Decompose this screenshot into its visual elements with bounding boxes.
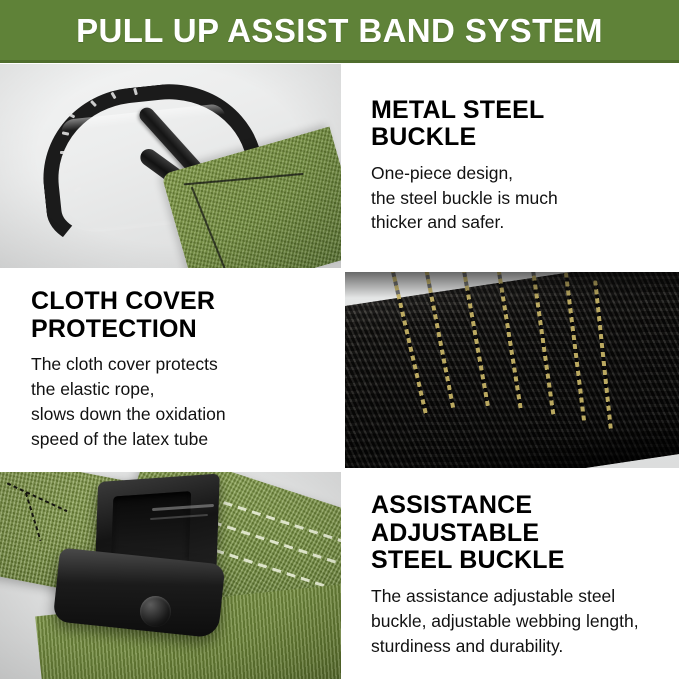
header-banner: PULL UP ASSIST BAND SYSTEM	[0, 0, 679, 63]
adjustable-buckle-webbing-photo	[0, 472, 341, 679]
product-infographic: PULL UP ASSIST BAND SYSTEM METAL STEEL B…	[0, 0, 679, 679]
buckle-knob-shape	[140, 596, 171, 627]
webbing-stitch-mark	[25, 493, 41, 541]
carabiner-hook-photo	[0, 64, 341, 268]
carabiner-tick-mark	[60, 151, 67, 154]
feature-body-metal-steel-buckle: One-piece design, the steel buckle is mu…	[371, 161, 661, 236]
page-title: PULL UP ASSIST BAND SYSTEM	[76, 14, 603, 47]
feature-heading-metal-steel-buckle: METAL STEEL BUCKLE	[371, 97, 661, 152]
feature-text-cloth-cover-protection: CLOTH COVER PROTECTION The cloth cover p…	[0, 272, 341, 468]
feature-photo-cloth-cover-protection	[345, 272, 679, 468]
feature-text-metal-steel-buckle: METAL STEEL BUCKLE One-piece design, the…	[345, 64, 679, 268]
feature-heading-assistance-adjustable-steel-buckle: ASSISTANCE ADJUSTABLE STEEL BUCKLE	[371, 492, 669, 575]
feature-heading-cloth-cover-protection: CLOTH COVER PROTECTION	[31, 288, 323, 343]
feature-text-assistance-adjustable-steel-buckle: ASSISTANCE ADJUSTABLE STEEL BUCKLE The a…	[345, 472, 679, 679]
feature-body-cloth-cover-protection: The cloth cover protects the elastic rop…	[31, 352, 323, 451]
feature-photo-assistance-adjustable-steel-buckle	[0, 472, 341, 679]
feature-photo-metal-steel-buckle	[0, 64, 341, 268]
braided-cloth-rope-photo	[345, 272, 679, 468]
feature-body-assistance-adjustable-steel-buckle: The assistance adjustable steel buckle, …	[371, 584, 669, 659]
webbing-stitch-mark	[7, 482, 68, 512]
